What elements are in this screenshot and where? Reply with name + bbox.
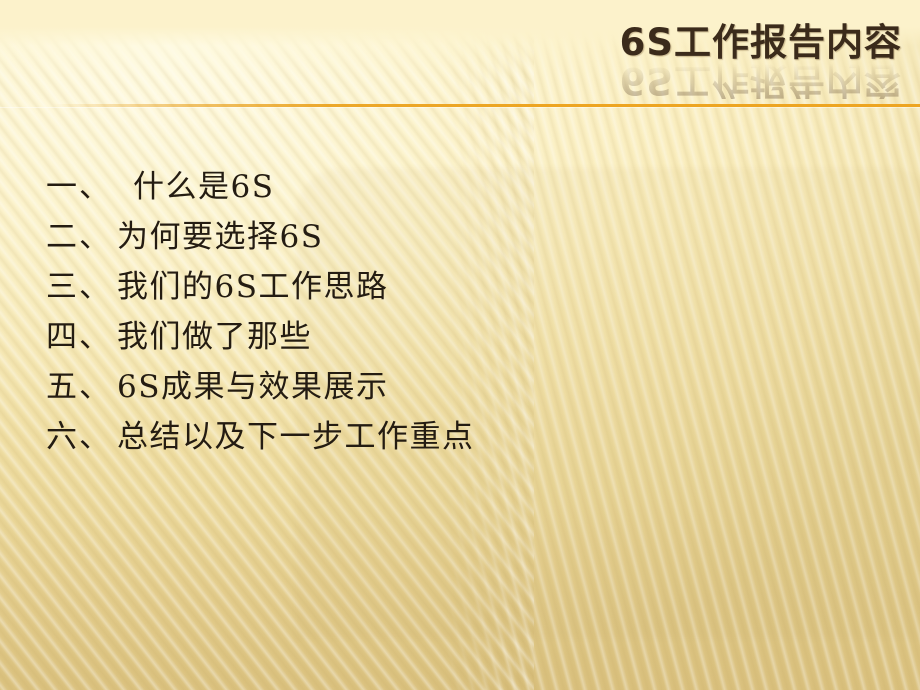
list-item-label: 什么是6S: [133, 169, 274, 205]
list-item-label: 我们做了那些: [117, 319, 312, 355]
list-item-label: 我们的6S工作思路: [117, 269, 388, 305]
slide-title-block: 6S工作报告内容 6S工作报告内容: [620, 24, 902, 99]
list-item-label: 6S成果与效果展示: [117, 369, 388, 405]
list-item: 一、什么是6S: [46, 162, 880, 212]
list-item: 四、我们做了那些: [46, 312, 880, 362]
slide-title: 6S工作报告内容: [620, 24, 902, 61]
slide-title-reflection: 6S工作报告内容: [620, 62, 902, 99]
list-item-number: 五、: [46, 369, 112, 405]
list-item-number: 四、: [46, 319, 112, 355]
agenda-list: 一、什么是6S 二、为何要选择6S 三、我们的6S工作思路 四、我们做了那些 五…: [46, 162, 880, 462]
list-item-number: 六、: [46, 419, 112, 455]
title-divider-rule: [0, 104, 920, 107]
list-item: 二、为何要选择6S: [46, 212, 880, 262]
list-item: 五、6S成果与效果展示: [46, 362, 880, 412]
presentation-slide: 6S工作报告内容 6S工作报告内容 一、什么是6S 二、为何要选择6S 三、我们…: [0, 0, 920, 690]
list-item-number: 三、: [46, 269, 112, 305]
list-item-number: 二、: [46, 219, 112, 255]
list-item-label: 为何要选择6S: [117, 219, 323, 255]
list-item-label: 总结以及下一步工作重点: [117, 419, 475, 455]
list-item: 三、我们的6S工作思路: [46, 262, 880, 312]
list-item-number: 一、: [46, 169, 112, 205]
list-item: 六、总结以及下一步工作重点: [46, 412, 880, 462]
